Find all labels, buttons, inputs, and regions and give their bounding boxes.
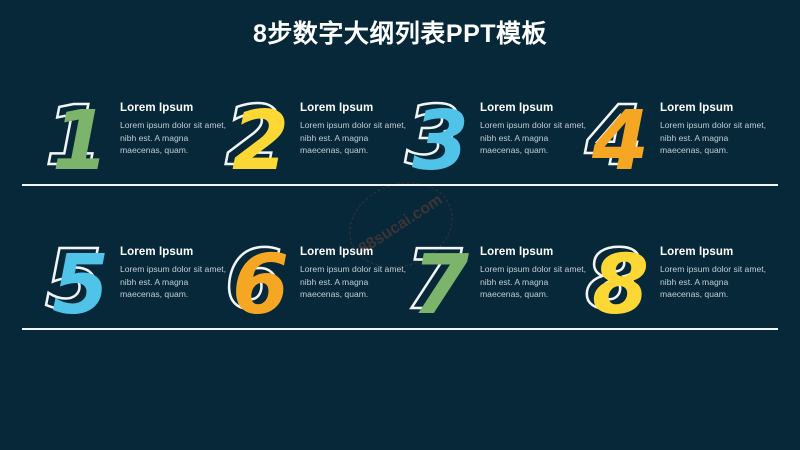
step-number-6: 6 6 xyxy=(232,242,294,334)
step-number-fill: 6 xyxy=(232,242,287,330)
step-item-7[interactable]: 7 7 Lorem Ipsum Lorem ipsum dolor sit am… xyxy=(412,240,592,348)
step-number-4: 4 4 xyxy=(592,98,654,190)
step-text-block: Lorem Ipsum Lorem ipsum dolor sit amet, … xyxy=(480,246,592,301)
step-number-fill: 3 xyxy=(412,98,467,186)
step-text-block: Lorem Ipsum Lorem ipsum dolor sit amet, … xyxy=(120,246,232,301)
step-number-fill: 7 xyxy=(412,242,467,330)
step-heading: Lorem Ipsum xyxy=(120,102,232,114)
slide-canvas: 8步数字大纲列表PPT模板 88sucai.com 1 1 Lorem Ipsu… xyxy=(0,0,800,450)
step-number-8: 8 8 xyxy=(592,242,654,334)
step-item-4[interactable]: 4 4 Lorem Ipsum Lorem ipsum dolor sit am… xyxy=(592,96,772,204)
step-number-fill: 1 xyxy=(52,98,107,186)
step-heading: Lorem Ipsum xyxy=(480,246,592,258)
step-text-block: Lorem Ipsum Lorem ipsum dolor sit amet, … xyxy=(300,102,412,157)
step-body: Lorem ipsum dolor sit amet, nibh est. A … xyxy=(120,263,232,301)
step-body: Lorem ipsum dolor sit amet, nibh est. A … xyxy=(480,263,592,301)
step-item-6[interactable]: 6 6 Lorem Ipsum Lorem ipsum dolor sit am… xyxy=(232,240,412,348)
step-body: Lorem ipsum dolor sit amet, nibh est. A … xyxy=(300,263,412,301)
step-body: Lorem ipsum dolor sit amet, nibh est. A … xyxy=(660,263,772,301)
step-text-block: Lorem Ipsum Lorem ipsum dolor sit amet, … xyxy=(300,246,412,301)
step-heading: Lorem Ipsum xyxy=(120,246,232,258)
step-number-fill: 2 xyxy=(232,98,287,186)
step-item-5[interactable]: 5 5 Lorem Ipsum Lorem ipsum dolor sit am… xyxy=(52,240,232,348)
step-text-block: Lorem Ipsum Lorem ipsum dolor sit amet, … xyxy=(480,102,592,157)
step-text-block: Lorem Ipsum Lorem ipsum dolor sit amet, … xyxy=(660,102,772,157)
step-number-3: 3 3 xyxy=(412,98,474,190)
step-number-1: 1 1 xyxy=(52,98,114,190)
step-item-1[interactable]: 1 1 Lorem Ipsum Lorem ipsum dolor sit am… xyxy=(52,96,232,204)
step-heading: Lorem Ipsum xyxy=(300,246,412,258)
step-heading: Lorem Ipsum xyxy=(300,102,412,114)
step-number-fill: 5 xyxy=(52,242,107,330)
step-heading: Lorem Ipsum xyxy=(660,102,772,114)
step-body: Lorem ipsum dolor sit amet, nibh est. A … xyxy=(120,119,232,157)
step-number-5: 5 5 xyxy=(52,242,114,334)
steps-row-top: 1 1 Lorem Ipsum Lorem ipsum dolor sit am… xyxy=(0,96,800,204)
step-number-2: 2 2 xyxy=(232,98,294,190)
step-item-3[interactable]: 3 3 Lorem Ipsum Lorem ipsum dolor sit am… xyxy=(412,96,592,204)
step-number-fill: 8 xyxy=(592,242,647,330)
page-title: 8步数字大纲列表PPT模板 xyxy=(0,14,800,50)
step-heading: Lorem Ipsum xyxy=(660,246,772,258)
step-body: Lorem ipsum dolor sit amet, nibh est. A … xyxy=(300,119,412,157)
step-body: Lorem ipsum dolor sit amet, nibh est. A … xyxy=(660,119,772,157)
step-item-8[interactable]: 8 8 Lorem Ipsum Lorem ipsum dolor sit am… xyxy=(592,240,772,348)
step-text-block: Lorem Ipsum Lorem ipsum dolor sit amet, … xyxy=(120,102,232,157)
steps-row-bottom: 5 5 Lorem Ipsum Lorem ipsum dolor sit am… xyxy=(0,240,800,348)
step-number-fill: 4 xyxy=(592,98,647,186)
step-text-block: Lorem Ipsum Lorem ipsum dolor sit amet, … xyxy=(660,246,772,301)
step-item-2[interactable]: 2 2 Lorem Ipsum Lorem ipsum dolor sit am… xyxy=(232,96,412,204)
step-body: Lorem ipsum dolor sit amet, nibh est. A … xyxy=(480,119,592,157)
step-heading: Lorem Ipsum xyxy=(480,102,592,114)
step-number-7: 7 7 xyxy=(412,242,474,334)
